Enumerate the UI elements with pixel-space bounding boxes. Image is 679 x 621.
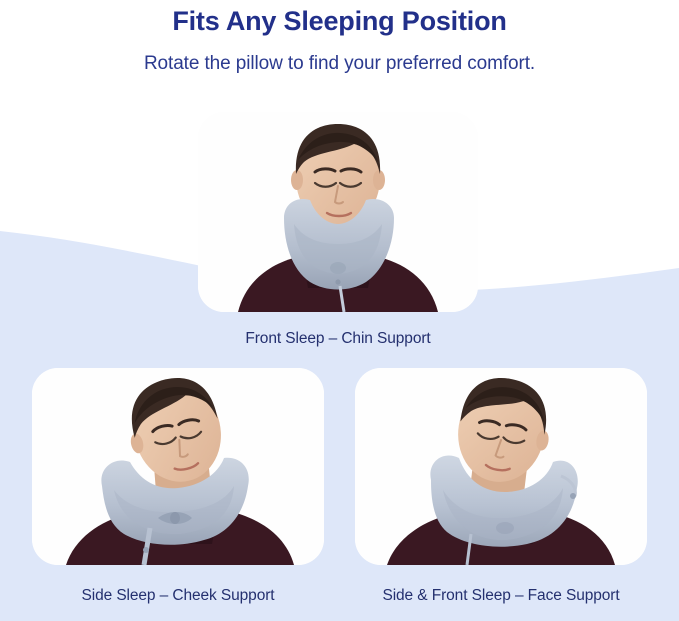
page-subtitle: Rotate the pillow to find your preferred… (0, 52, 679, 76)
card-side-sleep (32, 368, 324, 565)
photo-side-front-sleep (355, 368, 647, 565)
promo-image: Fits Any Sleeping Position Rotate the pi… (0, 0, 679, 621)
photo-side-sleep (32, 368, 324, 565)
page-title: Fits Any Sleeping Position (0, 4, 679, 38)
photo-front-sleep (198, 112, 478, 312)
caption-front-sleep: Front Sleep – Chin Support (198, 329, 478, 349)
caption-side-sleep: Side Sleep – Cheek Support (20, 586, 336, 606)
header: Fits Any Sleeping Position Rotate the pi… (0, 0, 679, 76)
card-front-sleep (198, 112, 478, 312)
card-side-front-sleep (355, 368, 647, 565)
caption-side-front-sleep: Side & Front Sleep – Face Support (343, 586, 659, 606)
